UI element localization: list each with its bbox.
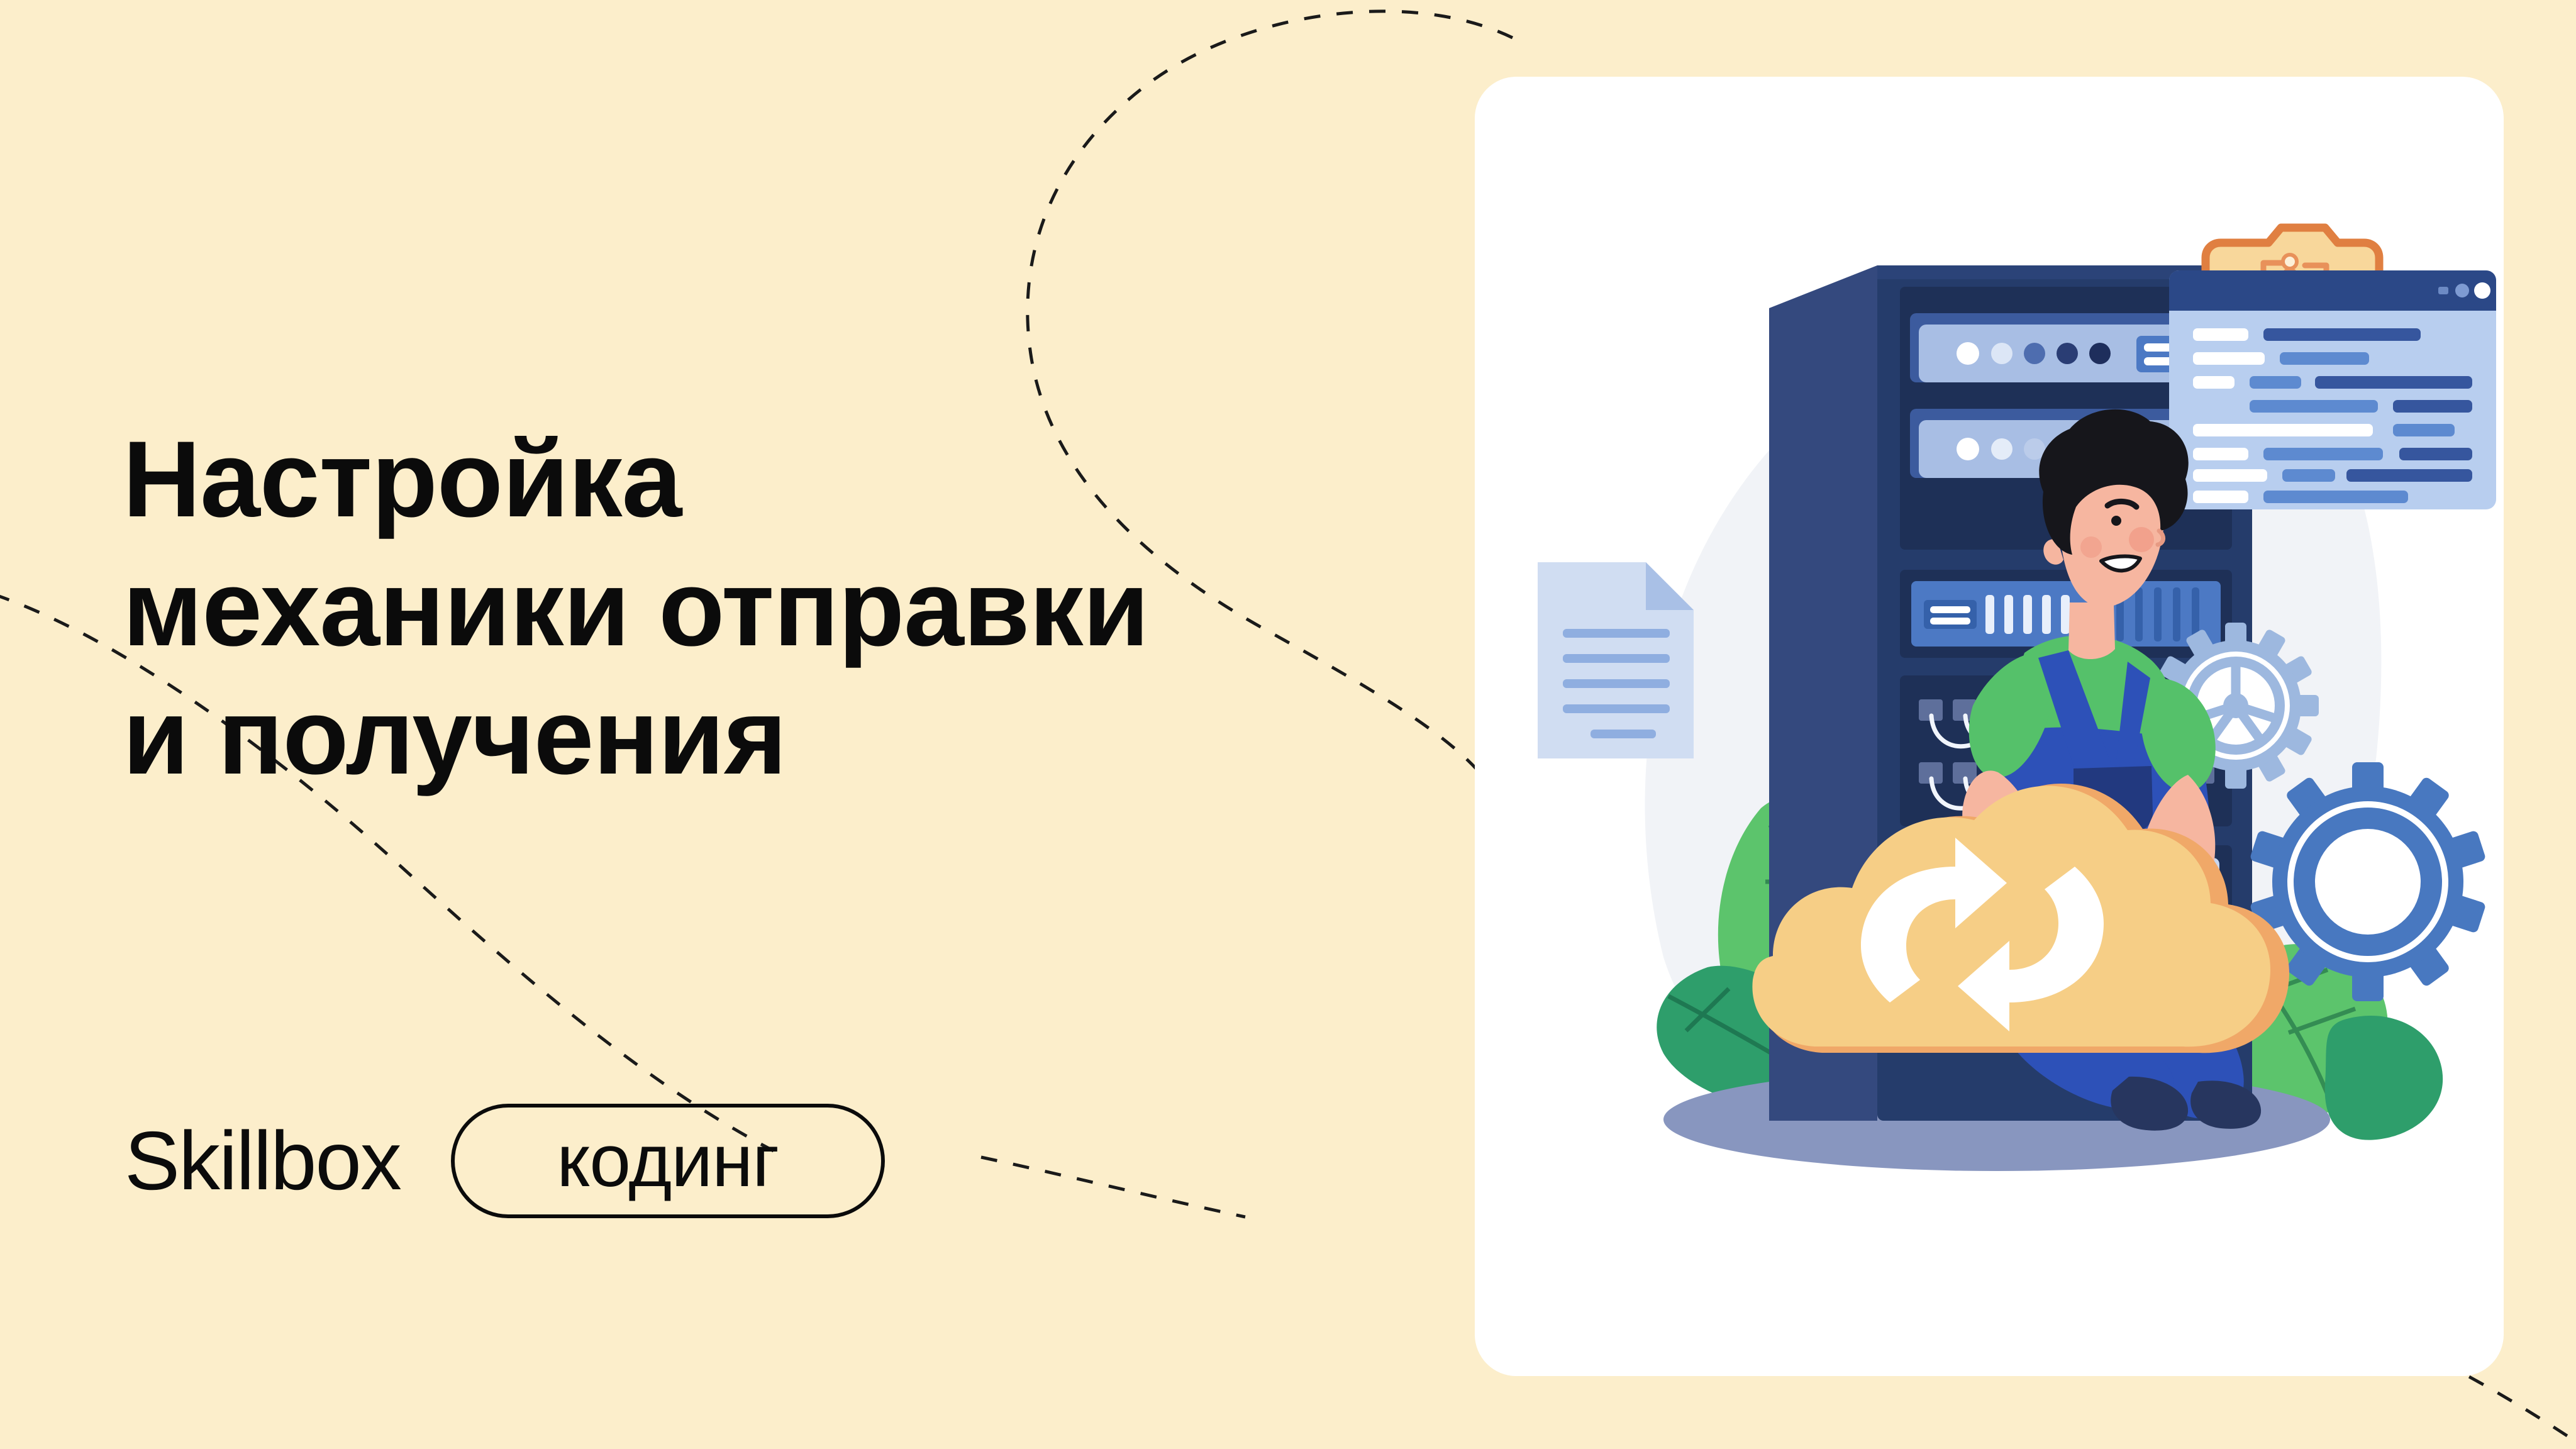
category-pill[interactable]: кодинг	[451, 1104, 885, 1218]
server-maintenance-illustration	[1475, 77, 2504, 1376]
brand-row: Skillbox кодинг	[125, 1104, 885, 1218]
code-window-panel	[2169, 270, 2496, 509]
headline-title: Настройка механики отправки и получения	[123, 415, 1481, 801]
document-icon	[1538, 562, 1694, 758]
promo-slide: Настройка механики отправки и получения …	[0, 0, 2576, 1449]
category-pill-label: кодинг	[557, 1124, 779, 1198]
illustration-card	[1475, 77, 2504, 1376]
skillbox-logo: Skillbox	[125, 1119, 401, 1202]
dashed-pill-tail-curve	[981, 1157, 1245, 1217]
